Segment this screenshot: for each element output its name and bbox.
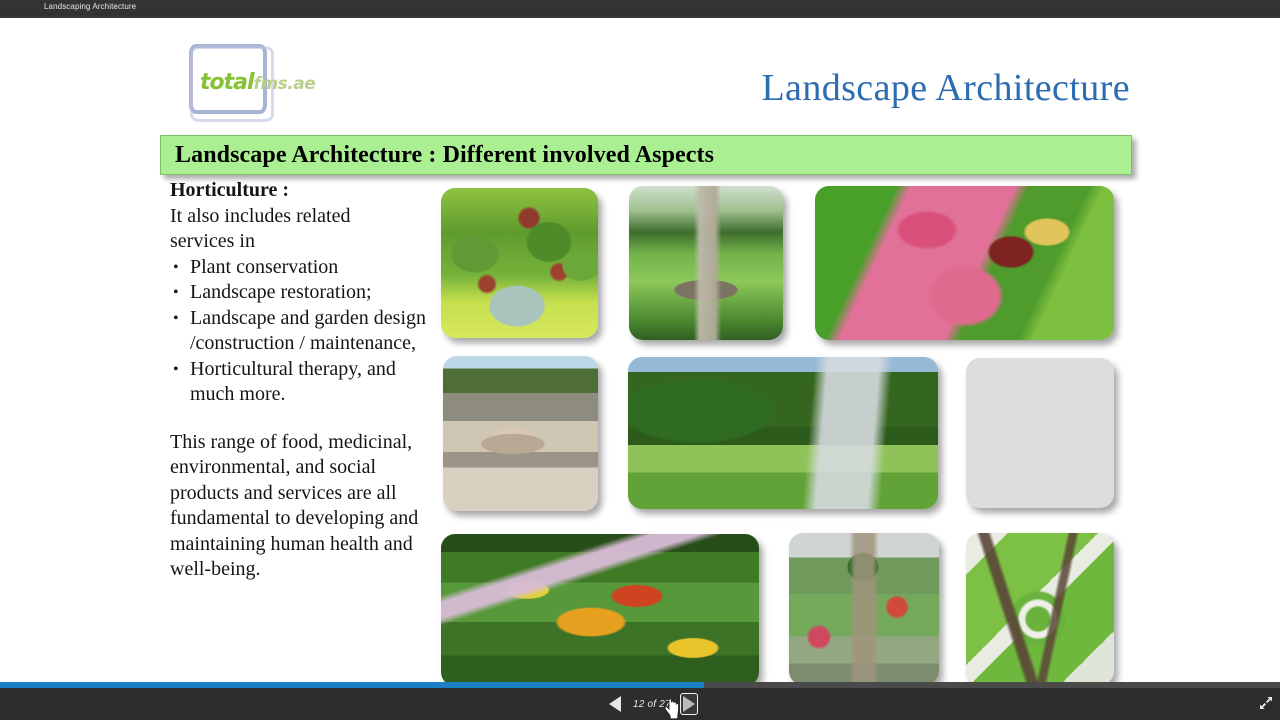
section-banner: Landscape Architecture : Different invol… — [160, 135, 1132, 175]
photo-formal-lawn-path — [629, 186, 783, 340]
body-intro-line-2: services in — [170, 229, 432, 255]
photo-canvas — [441, 188, 598, 338]
body-paragraph: This range of food, medicinal, environme… — [170, 430, 432, 583]
body-bullet-list: Plant conservation Landscape restoration… — [170, 255, 432, 408]
photo-pink-flower-bed — [815, 186, 1114, 340]
photo-canvas — [966, 358, 1114, 508]
photo-canvas — [441, 534, 759, 686]
photo-colourful-flower-garden — [441, 534, 759, 686]
body-heading: Horticulture : — [170, 178, 432, 204]
photo-stone-fountain-patio — [443, 356, 598, 511]
photo-canvas — [629, 186, 783, 340]
triangle-right-icon — [683, 696, 695, 712]
photo-greenhouse-nursery — [789, 533, 939, 685]
list-item: Landscape and garden design /constructio… — [170, 306, 432, 357]
window-title: Landscaping Architecture — [44, 2, 136, 11]
logo-word-main: total — [200, 70, 254, 95]
slide-navigation: 12 of 27 — [606, 692, 698, 716]
list-item: Landscape restoration; — [170, 280, 432, 306]
photo-zen-sand-garden — [966, 358, 1114, 508]
photo-canvas — [443, 356, 598, 511]
photo-parterre-garden-aerial — [966, 533, 1114, 685]
triangle-left-icon — [609, 696, 621, 712]
list-item: Plant conservation — [170, 255, 432, 281]
body-intro-line-1: It also includes related — [170, 204, 432, 230]
photo-canvas — [815, 186, 1114, 340]
slide-stage: totalfms.ae Landscape Architecture Lands… — [0, 18, 1280, 680]
photo-topiary-shrubs — [441, 188, 598, 338]
fullscreen-button[interactable] — [1258, 695, 1274, 711]
window-title-bar: Landscaping Architecture — [0, 0, 1280, 13]
slide-counter: 12 of 27 — [633, 699, 671, 710]
logo-wordmark: totalfms.ae — [200, 70, 315, 95]
photo-canvas — [628, 357, 938, 509]
page-title: Landscape Architecture — [700, 66, 1130, 110]
previous-slide-button[interactable] — [606, 693, 624, 715]
list-item: Horticultural therapy, and much more. — [170, 357, 432, 408]
body-text-column: Horticulture : It also includes related … — [170, 178, 432, 583]
company-logo: totalfms.ae — [189, 44, 333, 114]
photo-plant-nursery-rows — [628, 357, 938, 509]
logo-word-suffix: fms.ae — [254, 74, 316, 94]
photo-canvas — [789, 533, 939, 685]
next-slide-button[interactable] — [680, 693, 698, 715]
photo-canvas — [966, 533, 1114, 685]
section-banner-label: Landscape Architecture : Different invol… — [175, 142, 714, 169]
